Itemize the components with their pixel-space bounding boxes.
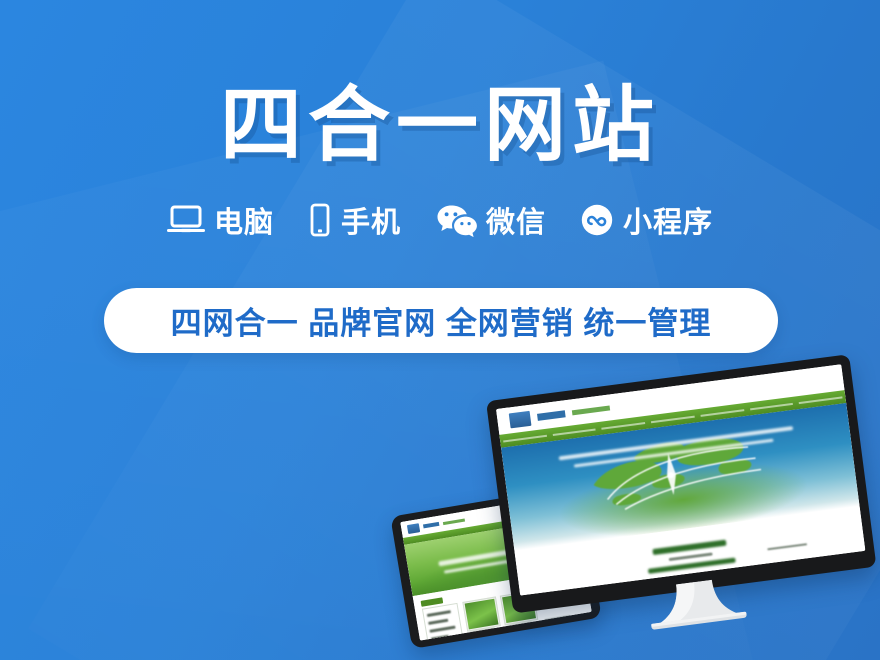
nav-item[interactable] xyxy=(799,396,843,404)
feature-label-mobile: 手机 xyxy=(341,206,401,240)
section-side-note xyxy=(768,543,808,550)
feature-item-miniprogram: 小程序 xyxy=(580,203,713,242)
feature-label-desktop: 电脑 xyxy=(214,206,274,240)
feature-label-miniprogram: 小程序 xyxy=(623,206,713,240)
feature-list: 电脑 手机 微信 xyxy=(0,203,880,242)
section-note xyxy=(685,575,701,579)
section-subtitle xyxy=(669,552,713,561)
feature-item-desktop: 电脑 xyxy=(167,204,274,241)
tablet-product-image xyxy=(465,599,499,630)
site-logo-text xyxy=(537,410,566,421)
nav-item[interactable] xyxy=(651,415,695,423)
tablet-site-slogan xyxy=(443,518,465,525)
nav-item[interactable] xyxy=(503,434,547,442)
tablet-list-line xyxy=(431,635,449,641)
nav-item[interactable] xyxy=(700,409,744,417)
promo-banner: 四合一网站 电脑 手机 xyxy=(0,0,880,660)
tablet-list-item xyxy=(422,603,463,641)
section-title xyxy=(652,540,726,555)
device-mockups xyxy=(386,372,880,660)
tablet-product-card xyxy=(462,596,500,631)
laptop-icon xyxy=(167,204,205,241)
monitor-screen xyxy=(496,364,865,595)
nav-item[interactable] xyxy=(602,422,646,430)
monitor-bezel xyxy=(486,354,877,613)
tagline-text: 四网合一 品牌官网 全网营销 统一管理 xyxy=(171,298,712,343)
feature-item-mobile: 手机 xyxy=(308,203,401,242)
mobile-phone-icon xyxy=(308,203,332,242)
wechat-icon xyxy=(435,203,477,242)
wechat-miniprogram-icon xyxy=(580,203,614,242)
feature-item-wechat: 微信 xyxy=(435,203,546,242)
tablet-list-line xyxy=(429,626,455,633)
tablet-product-caption xyxy=(544,615,570,622)
section-caption xyxy=(648,558,736,574)
tablet-list-line xyxy=(427,610,451,617)
tablet-site-logo-text xyxy=(423,522,439,529)
nav-item[interactable] xyxy=(750,402,794,410)
site-logo xyxy=(509,410,532,428)
page-title: 四合一网站 xyxy=(0,78,880,174)
desktop-monitor-mockup xyxy=(486,354,877,613)
tablet-list-line xyxy=(428,619,448,625)
feature-label-wechat: 微信 xyxy=(486,206,546,240)
nav-item[interactable] xyxy=(552,428,596,436)
tablet-site-logo xyxy=(407,523,420,534)
desktop-website-preview xyxy=(496,364,865,595)
tagline-pill: 四网合一 品牌官网 全网营销 统一管理 xyxy=(104,288,778,353)
site-slogan xyxy=(572,405,610,415)
